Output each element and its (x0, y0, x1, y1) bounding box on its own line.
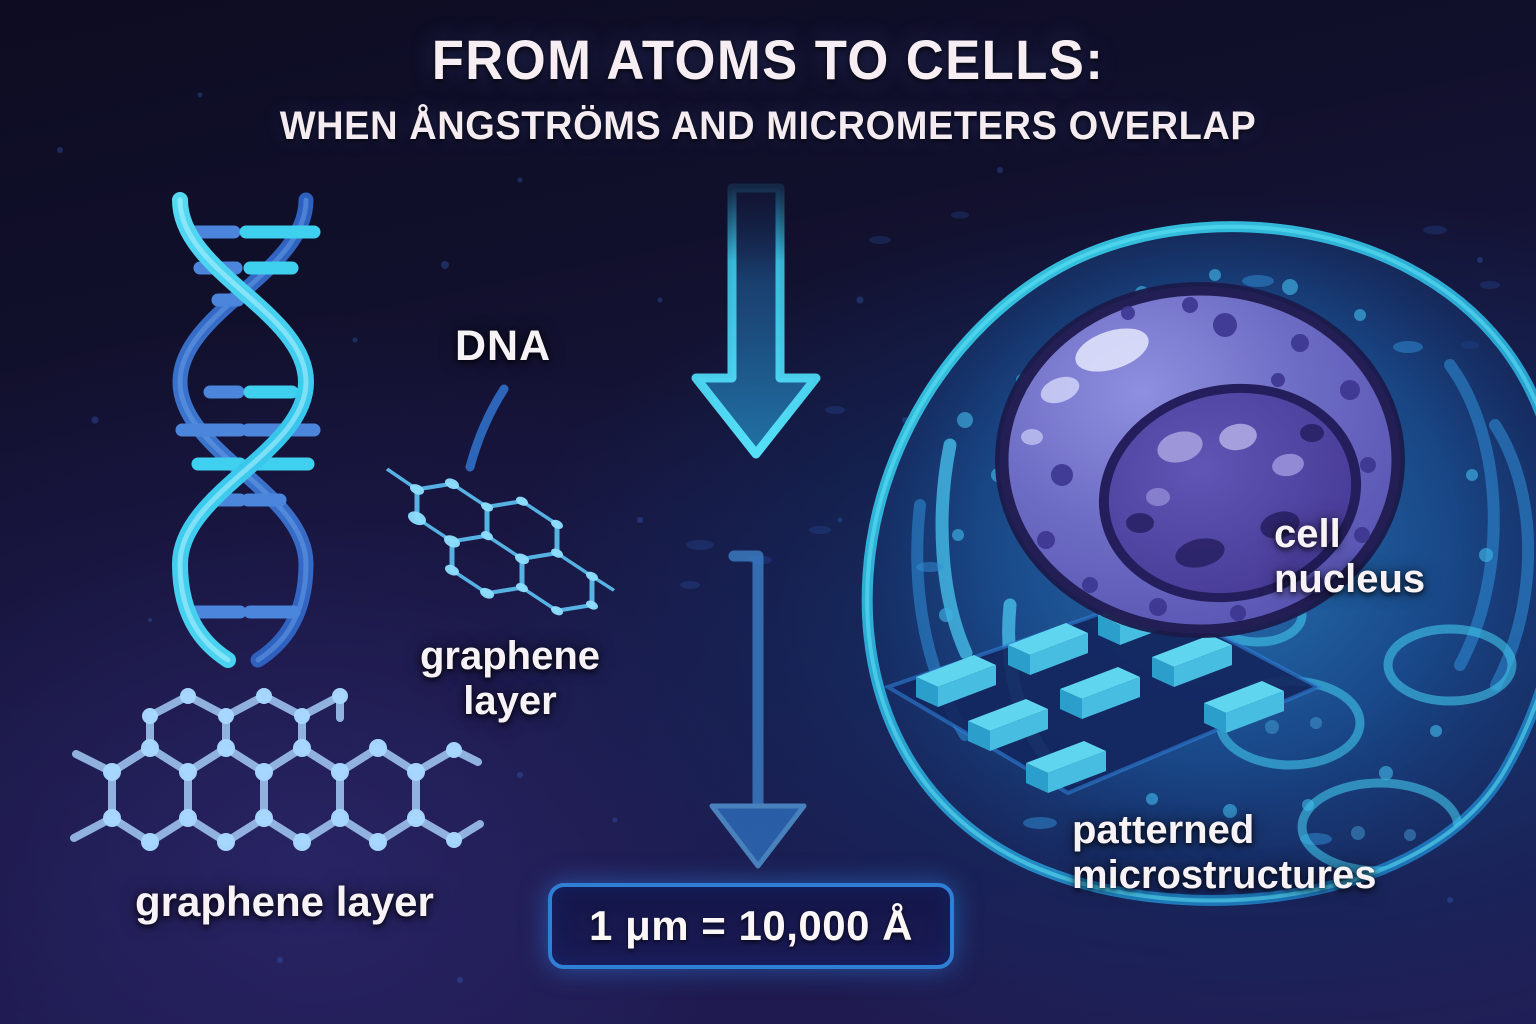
dna-helix-illustration (128, 192, 358, 662)
conversion-formula-text: 1 μm = 10,000 Å (589, 902, 913, 950)
graphene-big-lattice (82, 700, 502, 880)
label-dna: DNA (455, 322, 551, 370)
label-patterned-microstructures: patterned microstructures (1072, 808, 1377, 898)
down-arrow-large (676, 182, 836, 467)
conversion-formula-box: 1 μm = 10,000 Å (548, 883, 954, 969)
infographic-canvas: FROM ATOMS TO CELLS: WHEN ÅNGSTRÖMS AND … (0, 0, 1536, 1024)
down-arrow-thin (700, 548, 820, 878)
dna-pointer-line (460, 385, 540, 475)
page-subtitle: WHEN ÅNGSTRÖMS AND MICROMETERS OVERLAP (38, 104, 1497, 149)
label-cell-nucleus: cell nucleus (1274, 512, 1425, 602)
page-title: FROM ATOMS TO CELLS: (46, 30, 1490, 90)
header-block: FROM ATOMS TO CELLS: WHEN ÅNGSTRÖMS AND … (0, 30, 1536, 149)
label-graphene-layer-small: graphene layer (400, 634, 620, 724)
label-graphene-layer-big: graphene layer (135, 878, 434, 925)
